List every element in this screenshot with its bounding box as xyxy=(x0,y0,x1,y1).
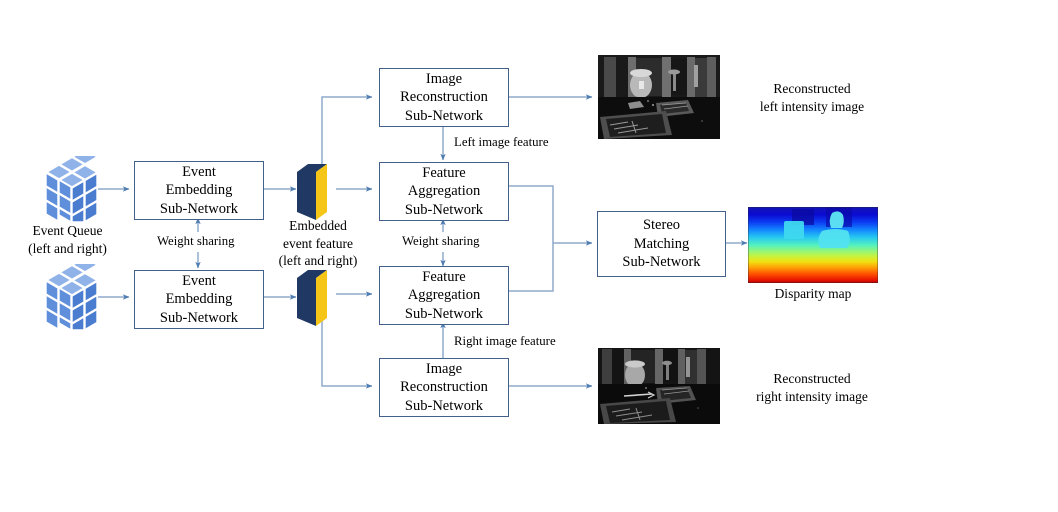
reconstructed-right-intensity-image xyxy=(598,348,720,424)
block-line: Sub-Network xyxy=(405,397,483,416)
event-embedding-right-block[interactable]: Event Embedding Sub-Network xyxy=(134,270,264,329)
block-line: Sub-Network xyxy=(405,201,483,220)
weight-sharing-label-top: Weight sharing xyxy=(155,234,237,249)
right-image-feature-label: Right image feature xyxy=(452,334,558,349)
block-line: Sub-Network xyxy=(160,309,238,328)
caption-line: Disparity map xyxy=(748,285,878,303)
block-line: Sub-Network xyxy=(405,305,483,324)
block-line: Aggregation xyxy=(408,286,480,305)
feature-aggregation-right-block[interactable]: Feature Aggregation Sub-Network xyxy=(379,266,509,325)
diagram-canvas: Event Embedding Sub-Network Event Embedd… xyxy=(0,0,1058,512)
event-queue-caption: Event Queue (left and right) xyxy=(0,222,135,257)
block-line: Sub-Network xyxy=(622,253,700,272)
caption-line: Event Queue xyxy=(0,222,135,240)
block-line: Embedding xyxy=(166,181,233,200)
block-line: Matching xyxy=(634,235,690,254)
reconstructed-left-intensity-image xyxy=(598,55,720,139)
block-line: Stereo xyxy=(643,216,680,235)
caption-line: right intensity image xyxy=(722,388,902,406)
block-line: Sub-Network xyxy=(160,200,238,219)
stereo-matching-block[interactable]: Stereo Matching Sub-Network xyxy=(597,211,726,277)
block-line: Feature xyxy=(422,164,465,183)
disparity-map-caption: Disparity map xyxy=(748,285,878,303)
block-line: Aggregation xyxy=(408,182,480,201)
image-reconstruction-right-block[interactable]: Image Reconstruction Sub-Network xyxy=(379,358,509,417)
block-line: Sub-Network xyxy=(405,107,483,126)
caption-line: event feature xyxy=(252,235,384,253)
embedded-feature-slab-icon xyxy=(297,270,339,326)
block-line: Reconstruction xyxy=(400,88,488,107)
block-line: Image xyxy=(426,70,462,89)
weight-sharing-label-bottom: Weight sharing xyxy=(400,234,482,249)
caption-line: (left and right) xyxy=(252,252,384,270)
event-queue-cube-icon xyxy=(33,264,99,330)
embedded-feature-caption: Embedded event feature (left and right) xyxy=(252,217,384,270)
feature-aggregation-left-block[interactable]: Feature Aggregation Sub-Network xyxy=(379,162,509,221)
caption-line: Reconstructed xyxy=(722,370,902,388)
block-line: Event xyxy=(182,272,216,291)
caption-line: (left and right) xyxy=(0,240,135,258)
embedded-feature-slab-icon xyxy=(297,164,339,220)
block-line: Reconstruction xyxy=(400,378,488,397)
block-line: Image xyxy=(426,360,462,379)
left-image-feature-label: Left image feature xyxy=(452,135,551,150)
disparity-map-image xyxy=(748,207,878,283)
reconstructed-left-caption: Reconstructed left intensity image xyxy=(722,80,902,115)
caption-line: left intensity image xyxy=(722,98,902,116)
event-embedding-left-block[interactable]: Event Embedding Sub-Network xyxy=(134,161,264,220)
connector-layer xyxy=(0,0,1058,512)
caption-line: Embedded xyxy=(252,217,384,235)
caption-line: Reconstructed xyxy=(722,80,902,98)
block-line: Feature xyxy=(422,268,465,287)
block-line: Event xyxy=(182,163,216,182)
reconstructed-right-caption: Reconstructed right intensity image xyxy=(722,370,902,405)
block-line: Embedding xyxy=(166,290,233,309)
image-reconstruction-left-block[interactable]: Image Reconstruction Sub-Network xyxy=(379,68,509,127)
event-queue-cube-icon xyxy=(33,156,99,222)
